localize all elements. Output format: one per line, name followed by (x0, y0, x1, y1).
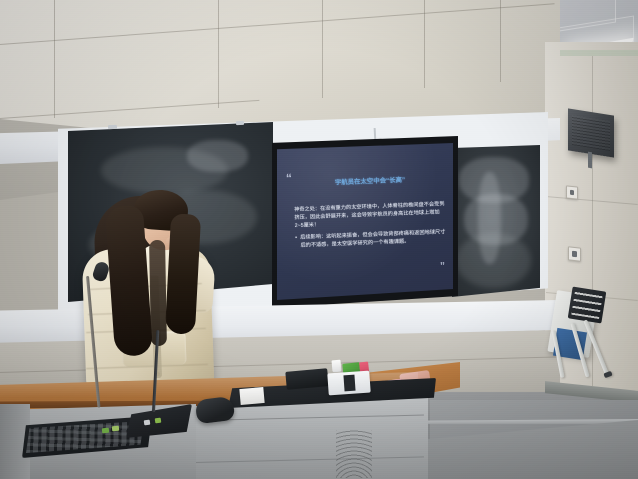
quote-open-mark: “ (286, 172, 291, 184)
speaker-grill (572, 115, 610, 151)
board-clip (236, 121, 244, 125)
wall-outlet[interactable] (566, 185, 578, 199)
wall-outlet[interactable] (568, 246, 581, 261)
paper-sheet (239, 387, 264, 405)
wall-seam (218, 0, 219, 108)
microphone-power-button[interactable] (155, 418, 162, 424)
keyboard-key-green[interactable] (112, 426, 119, 432)
slide-paragraph: 神奇之处：在没有重力的太空环境中，人体脊柱的椎间盘不会受到挤压，因此会舒展开来，… (294, 200, 447, 230)
slide-bullet: 后续影响：这听起来振奋，但会会导致背部疼痛和返回地球尺寸后的不适感，是太空医学研… (295, 228, 448, 250)
white-cup[interactable] (331, 360, 341, 373)
classroom-photo: “ 宇航员在太空中会“长高” 神奇之处：在没有重力的太空环境中，人体脊柱的椎间盘… (0, 0, 638, 479)
quote-close-mark: ” (440, 262, 444, 272)
chair-backrest-slats (571, 291, 602, 319)
microphone-button[interactable] (144, 420, 151, 426)
chalkboard-right-panel (452, 145, 540, 297)
board-clip (108, 125, 117, 129)
wall-trim (560, 50, 638, 56)
speaker-bracket (588, 152, 592, 169)
control-pad-screen[interactable] (343, 375, 355, 392)
wall-seam (322, 0, 323, 98)
keyboard-key-green[interactable] (102, 428, 109, 434)
tablet-device[interactable] (285, 368, 328, 390)
wall-seam (54, 0, 55, 118)
podium-vent (336, 430, 372, 478)
wall-seam (500, 0, 501, 82)
slide-body: 神奇之处：在没有重力的太空环境中，人体脊柱的椎间盘不会受到挤压，因此会舒展开来，… (294, 200, 448, 253)
